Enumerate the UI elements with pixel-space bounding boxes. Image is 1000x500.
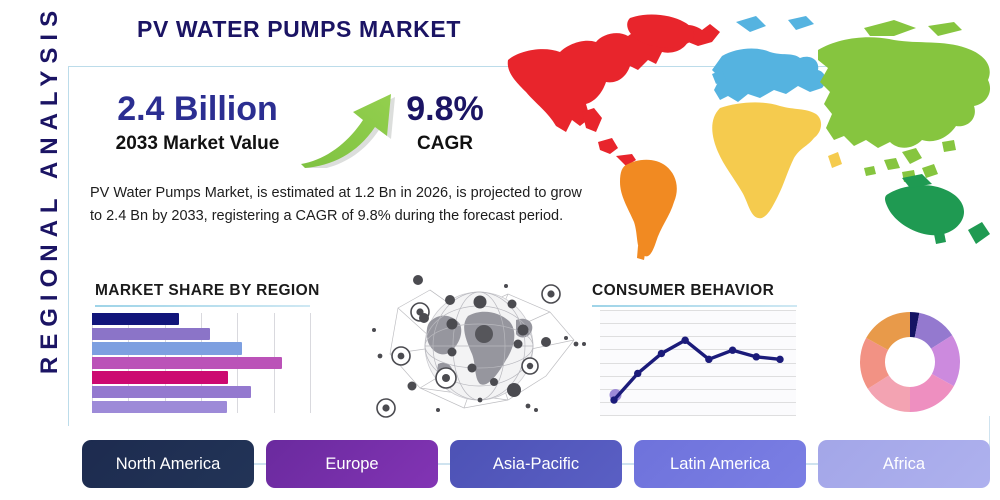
line-chart-point [634,370,641,377]
section-title-consumer-behavior: CONSUMER BEHAVIOR [592,282,797,300]
bar-chart-bar [92,371,228,383]
stats-row: 2.4 Billion 2033 Market Value 9.8% CAGR [90,92,510,172]
bar-chart-bar [92,357,282,369]
region-tab-europe[interactable]: Europe [266,440,438,488]
stat-cagr: 9.8% CAGR [380,92,510,155]
line-chart-point [705,356,712,363]
cagr-number: 9.8% [380,92,510,126]
section-rule-market-share [95,305,310,307]
infographic-root: REGIONAL ANALYSIS PV WATER PUMPS MARKET … [0,0,1000,500]
region-tab-connector [254,463,266,465]
bar-chart-gridline [310,313,311,413]
market-value-label: 2033 Market Value [90,133,305,155]
bar-chart-row [92,401,310,413]
bar-chart-bar [92,342,242,354]
stat-market-value: 2.4 Billion 2033 Market Value [90,92,305,155]
bar-chart-bar [92,328,210,340]
region-tab-north-america[interactable]: North America [82,440,254,488]
line-chart [600,310,796,415]
line-chart-point [753,353,760,360]
region-tab-connector [622,463,634,465]
region-tab-asia-pacific[interactable]: Asia-Pacific [450,440,622,488]
bar-chart-row [92,313,310,325]
section-market-share: MARKET SHARE BY REGION [95,282,310,307]
bar-chart-row [92,342,310,354]
bar-chart-row [92,386,310,398]
cagr-label: CAGR [380,133,510,155]
donut-chart [858,310,962,414]
line-chart-point [729,347,736,354]
page-title: PV WATER PUMPS MARKET [137,16,461,43]
bar-chart-row [92,328,310,340]
region-tab-connector [438,463,450,465]
side-label-regional-analysis: REGIONAL ANALYSIS [36,0,64,379]
line-chart-point [776,356,783,363]
line-chart-gridline [600,415,796,416]
line-chart-series [600,310,796,415]
section-consumer-behavior: CONSUMER BEHAVIOR [592,282,797,307]
bar-chart-bar [92,401,227,413]
bar-chart-row [92,357,310,369]
market-value-number: 2.4 Billion [90,92,305,126]
bar-chart-row [92,371,310,383]
line-chart-point [681,337,688,344]
section-title-market-share: MARKET SHARE BY REGION [95,282,310,300]
region-tabs: North AmericaEuropeAsia-PacificLatin Ame… [82,440,990,488]
bar-chart-bar [92,386,251,398]
global-network-globe-icon [368,268,590,426]
bar-chart-bar [92,313,179,325]
bar-chart-bars [92,313,310,413]
region-tab-africa[interactable]: Africa [818,440,990,488]
region-tab-connector [806,463,818,465]
line-chart-point [610,396,617,403]
world-map-icon [498,8,998,270]
section-rule-consumer-behavior [592,305,797,307]
region-tab-latin-america[interactable]: Latin America [634,440,806,488]
line-chart-point [658,350,665,357]
bar-chart [92,313,310,413]
